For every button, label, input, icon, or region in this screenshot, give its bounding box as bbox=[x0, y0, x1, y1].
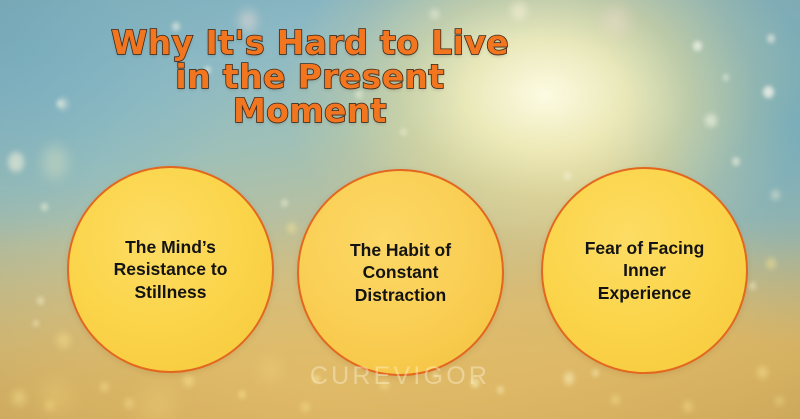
circle-2-line-3: Distraction bbox=[350, 284, 451, 306]
title-line-1: Why It's Hard to Live bbox=[60, 26, 560, 60]
circle-3-line-2: Inner bbox=[585, 259, 705, 281]
title-line-2: in the Present bbox=[60, 60, 560, 94]
concept-circle-habit-distraction[interactable]: The Habit of Constant Distraction bbox=[297, 169, 504, 376]
circle-1-line-3: Stillness bbox=[114, 281, 228, 303]
circle-3-line-3: Experience bbox=[585, 282, 705, 304]
concept-circle-fear-inner-experience[interactable]: Fear of Facing Inner Experience bbox=[541, 167, 748, 374]
page-title: Why It's Hard to Live in the Present Mom… bbox=[60, 26, 560, 128]
title-line-3: Moment bbox=[60, 94, 560, 128]
circle-label-habit-distraction: The Habit of Constant Distraction bbox=[336, 239, 465, 306]
circle-2-line-1: The Habit of bbox=[350, 239, 451, 261]
circle-3-line-1: Fear of Facing bbox=[585, 237, 705, 259]
circle-1-line-2: Resistance to bbox=[114, 258, 228, 280]
infographic-canvas: Why It's Hard to Live in the Present Mom… bbox=[0, 0, 800, 419]
circle-label-fear-inner-experience: Fear of Facing Inner Experience bbox=[571, 237, 719, 304]
watermark: CUREVIGOR bbox=[0, 362, 800, 391]
circle-label-mind-resistance: The Mind’s Resistance to Stillness bbox=[100, 236, 242, 303]
concept-circle-mind-resistance[interactable]: The Mind’s Resistance to Stillness bbox=[67, 166, 274, 373]
circle-2-line-2: Constant bbox=[350, 261, 451, 283]
circle-1-line-1: The Mind’s bbox=[114, 236, 228, 258]
